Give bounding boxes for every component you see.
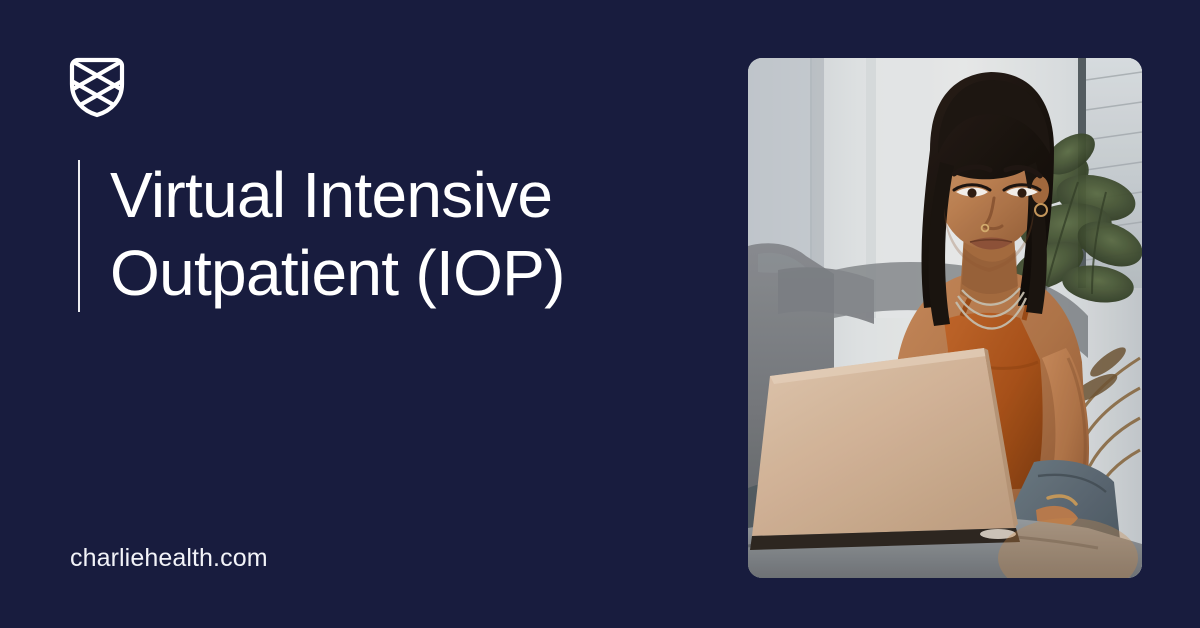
headline-accent-bar [78, 160, 80, 312]
page-title: Virtual Intensive Outpatient (IOP) [110, 156, 730, 312]
charlie-health-shield-icon [68, 56, 126, 118]
site-url: charliehealth.com [70, 544, 268, 573]
hero-photo [748, 58, 1142, 578]
hero-photo-illustration [748, 58, 1142, 578]
page-title-line-1: Virtual Intensive [110, 156, 730, 234]
page-title-line-2: Outpatient (IOP) [110, 234, 730, 312]
social-share-card: Virtual Intensive Outpatient (IOP) charl… [0, 0, 1200, 628]
